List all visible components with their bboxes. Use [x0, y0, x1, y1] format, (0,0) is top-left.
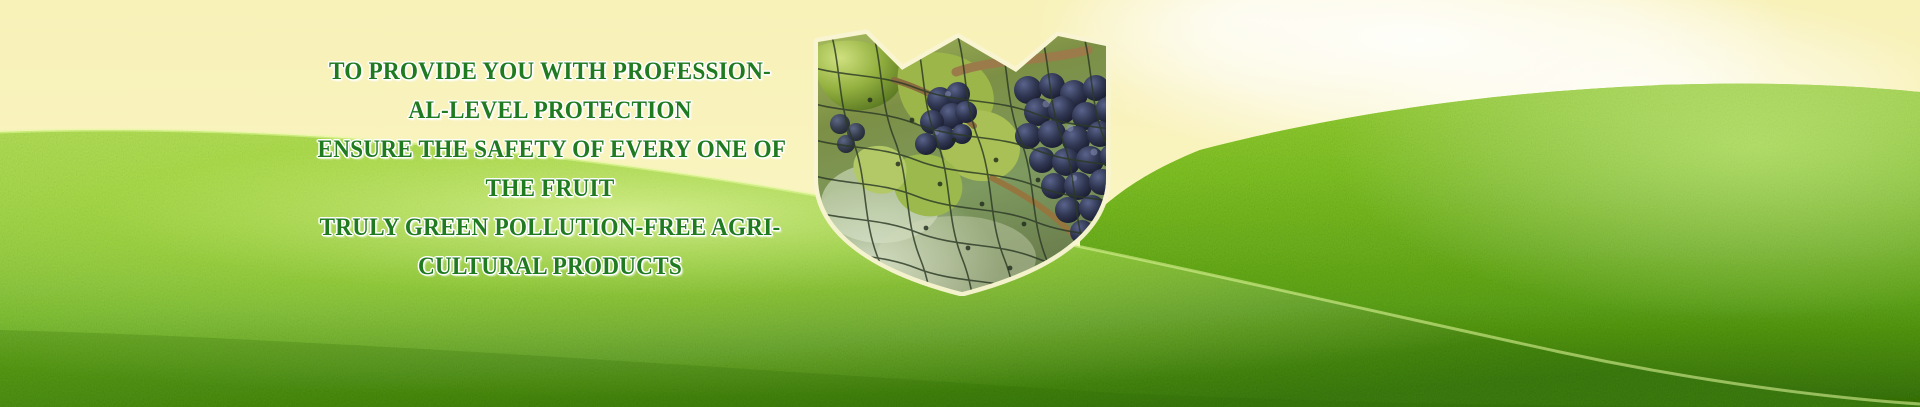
- headline-line-6: CULTURAL PRODUCTS: [318, 247, 783, 286]
- headline-line-3: ENSURE THE SAFETY OF EVERY ONE OF: [318, 130, 783, 169]
- headline-line-5: TRULY GREEN POLLUTION-FREE AGRI-: [318, 208, 783, 247]
- shield-emblem-graphic: [806, 28, 1116, 296]
- headline-block: TO PROVIDE YOU WITH PROFESSION- AL-LEVEL…: [300, 52, 800, 286]
- headline-line-1: TO PROVIDE YOU WITH PROFESSION-: [318, 52, 783, 91]
- shield-emblem: [806, 28, 1116, 296]
- promo-banner: TO PROVIDE YOU WITH PROFESSION- AL-LEVEL…: [0, 0, 1920, 407]
- shield-photo-grapes: [806, 28, 1116, 296]
- headline-line-4: THE FRUIT: [318, 169, 783, 208]
- headline-line-2: AL-LEVEL PROTECTION: [318, 91, 783, 130]
